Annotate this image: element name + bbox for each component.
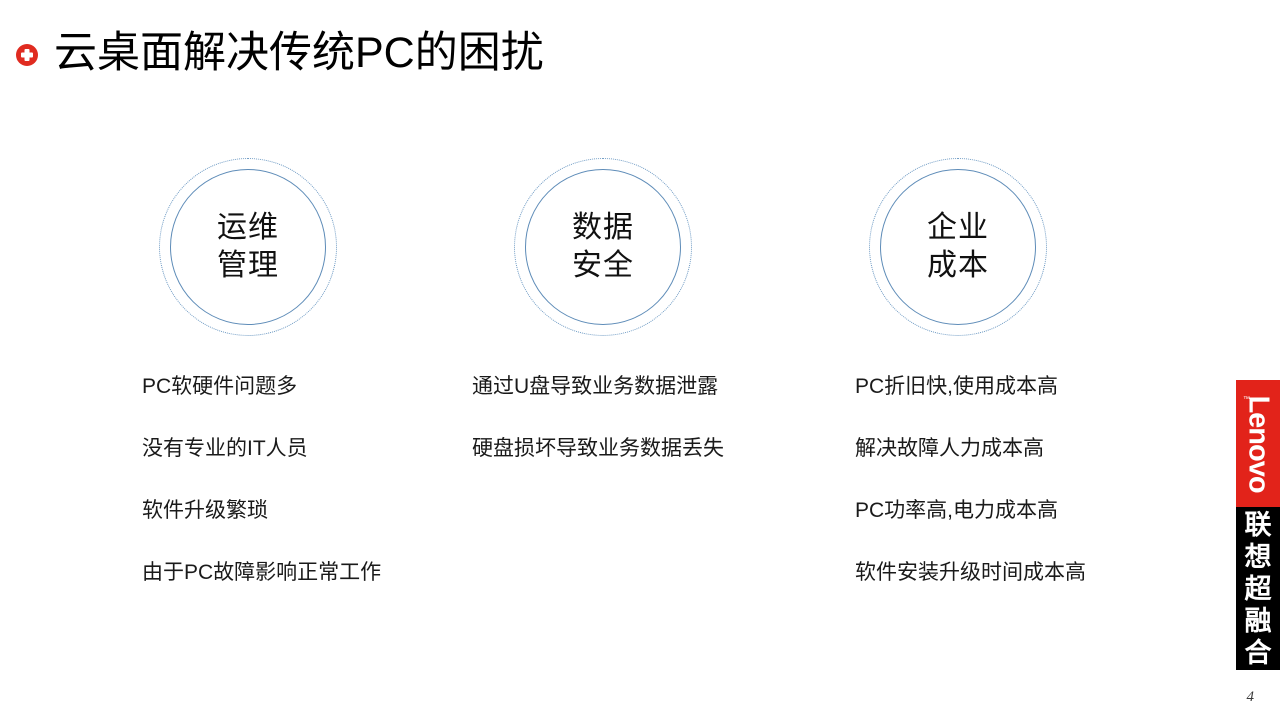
bullet-line: 解决故障人力成本高 bbox=[855, 436, 1086, 498]
bullet-line: 通过U盘导致业务数据泄露 bbox=[472, 374, 724, 436]
vertical-char: 融 bbox=[1245, 605, 1272, 637]
bullet-line: 硬盘损坏导致业务数据丢失 bbox=[472, 436, 724, 498]
circle-label-line2: 安全 bbox=[572, 247, 634, 285]
trademark-icon: ™ bbox=[1243, 396, 1250, 403]
circle-label-enterprise-cost: 企业 成本 bbox=[869, 158, 1047, 336]
circle-label-line2: 管理 bbox=[217, 247, 279, 285]
vertical-char: 想 bbox=[1245, 541, 1272, 573]
lenovo-logo: Lenovo ™ bbox=[1236, 380, 1280, 507]
hyperconverged-vertical-label: 联 想 超 融 合 bbox=[1236, 507, 1280, 670]
page-title: 云桌面解决传统PC的困扰 bbox=[54, 32, 544, 75]
circle-label-line1: 企业 bbox=[927, 209, 989, 247]
bullet-line: 软件升级繁琐 bbox=[142, 498, 381, 560]
bullet-line: PC软硬件问题多 bbox=[142, 374, 381, 436]
slide-title-row: 云桌面解决传统PC的困扰 bbox=[16, 24, 544, 82]
vertical-char: 联 bbox=[1245, 509, 1272, 541]
bullet-line: 没有专业的IT人员 bbox=[142, 436, 381, 498]
lenovo-badge: Lenovo ™ 联 想 超 融 合 bbox=[1236, 380, 1280, 670]
bullet-line: 由于PC故障影响正常工作 bbox=[142, 560, 381, 622]
plus-circle-icon bbox=[16, 44, 38, 66]
circle-ops-management: 运维 管理 bbox=[159, 158, 337, 336]
circle-label-line1: 运维 bbox=[217, 209, 279, 247]
circle-enterprise-cost: 企业 成本 bbox=[869, 158, 1047, 336]
bullet-column-ops-management: PC软硬件问题多 没有专业的IT人员 软件升级繁琐 由于PC故障影响正常工作 bbox=[142, 374, 381, 622]
circle-label-line2: 成本 bbox=[927, 247, 989, 285]
lenovo-wordmark: Lenovo bbox=[1244, 395, 1273, 492]
slide-canvas: 云桌面解决传统PC的困扰 运维 管理 数据 安全 企业 成本 PC软硬件问题多 … bbox=[0, 0, 1280, 720]
circle-label-ops-management: 运维 管理 bbox=[159, 158, 337, 336]
circle-label-data-security: 数据 安全 bbox=[514, 158, 692, 336]
vertical-char: 超 bbox=[1245, 573, 1272, 605]
bullet-line: PC折旧快,使用成本高 bbox=[855, 374, 1086, 436]
bullet-line: PC功率高,电力成本高 bbox=[855, 498, 1086, 560]
bullet-column-data-security: 通过U盘导致业务数据泄露 硬盘损坏导致业务数据丢失 bbox=[472, 374, 724, 498]
bullet-line: 软件安装升级时间成本高 bbox=[855, 560, 1086, 622]
circle-data-security: 数据 安全 bbox=[514, 158, 692, 336]
vertical-char: 合 bbox=[1245, 637, 1272, 669]
bullet-column-enterprise-cost: PC折旧快,使用成本高 解决故障人力成本高 PC功率高,电力成本高 软件安装升级… bbox=[855, 374, 1086, 622]
circle-label-line1: 数据 bbox=[572, 209, 634, 247]
page-number: 4 bbox=[1247, 689, 1255, 706]
